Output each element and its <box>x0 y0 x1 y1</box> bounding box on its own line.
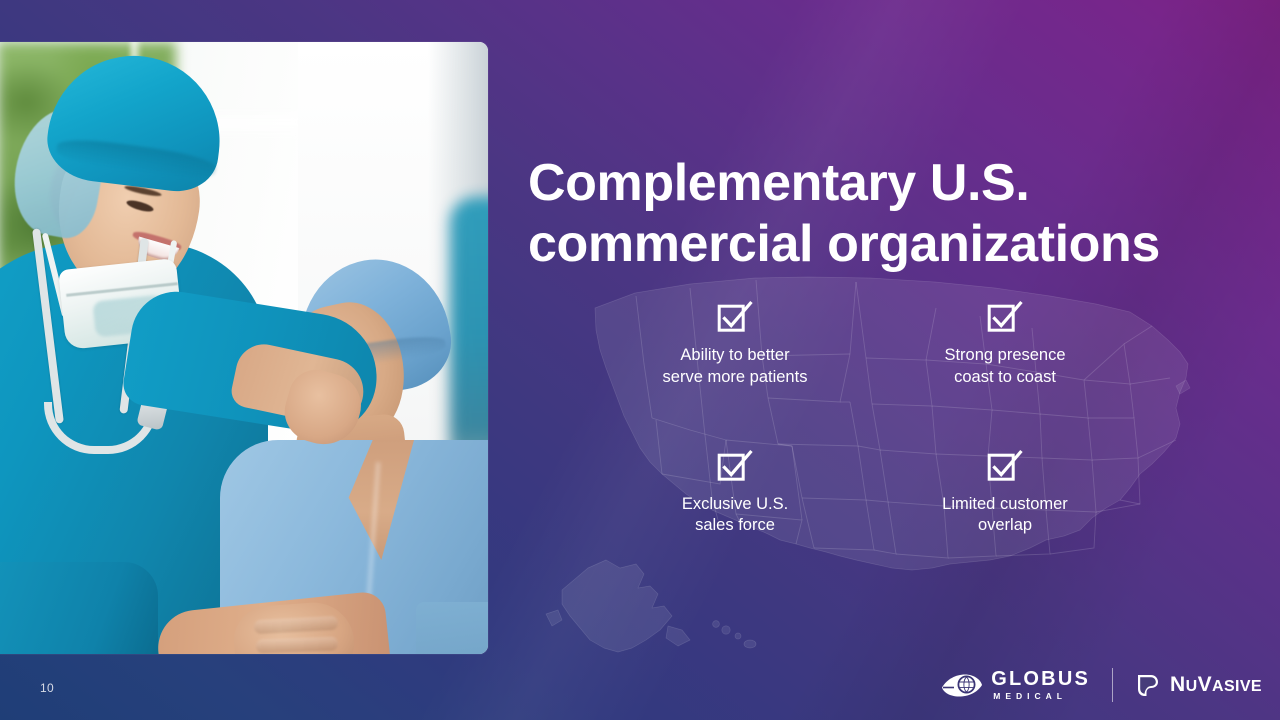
checkbox-checked-icon <box>987 300 1023 334</box>
slide-root: Complementary U.S.commercial organizatio… <box>0 0 1280 720</box>
globus-medical-logo: GLOBUS MEDICAL <box>941 669 1090 701</box>
logo-divider <box>1112 668 1113 702</box>
page-title-line-1: Complementary U.S. <box>528 154 1029 212</box>
feature-row-top: Ability to better serve more patients St… <box>600 300 1140 389</box>
page-title-line-2: commercial organizations <box>528 215 1160 273</box>
nuvasive-swirl-icon <box>1135 672 1161 699</box>
nuvasive-logo: NUVASIVE <box>1135 672 1262 699</box>
checkbox-checked-icon <box>717 300 753 334</box>
page-number: 10 <box>40 681 54 695</box>
nuvasive-wordmark: NUVASIVE <box>1170 673 1262 697</box>
feature-item-exclusive-sales-force[interactable]: Exclusive U.S. sales force <box>600 449 870 538</box>
checkbox-checked-icon <box>987 449 1023 483</box>
photo-nurse-lower-scrubs <box>0 562 158 654</box>
feature-item-limited-customer-overlap[interactable]: Limited customer overlap <box>870 449 1140 538</box>
photo-chair-back <box>416 602 488 654</box>
feature-checklist: Ability to better serve more patients St… <box>600 300 1140 537</box>
feature-label: Ability to better serve more patients <box>600 345 870 389</box>
feature-label: Limited customer overlap <box>870 494 1140 538</box>
hero-photo <box>0 42 488 654</box>
photo-patient-finger <box>256 637 338 654</box>
footer-logos: GLOBUS MEDICAL NUVASIVE <box>941 662 1262 708</box>
feature-item-strong-presence[interactable]: Strong presence coast to coast <box>870 300 1140 389</box>
feature-label: Exclusive U.S. sales force <box>600 494 870 538</box>
globus-eye-globe-icon <box>941 671 983 699</box>
page-title: Complementary U.S.commercial organizatio… <box>528 153 1218 276</box>
globus-subtitle: MEDICAL <box>993 692 1090 701</box>
feature-row-bottom: Exclusive U.S. sales force Limited custo… <box>600 449 1140 538</box>
checkbox-checked-icon <box>717 449 753 483</box>
globus-wordmark: GLOBUS MEDICAL <box>991 669 1090 701</box>
feature-item-ability-to-better-serve[interactable]: Ability to better serve more patients <box>600 300 870 389</box>
feature-label: Strong presence coast to coast <box>870 345 1140 389</box>
globus-name: GLOBUS <box>991 669 1090 689</box>
